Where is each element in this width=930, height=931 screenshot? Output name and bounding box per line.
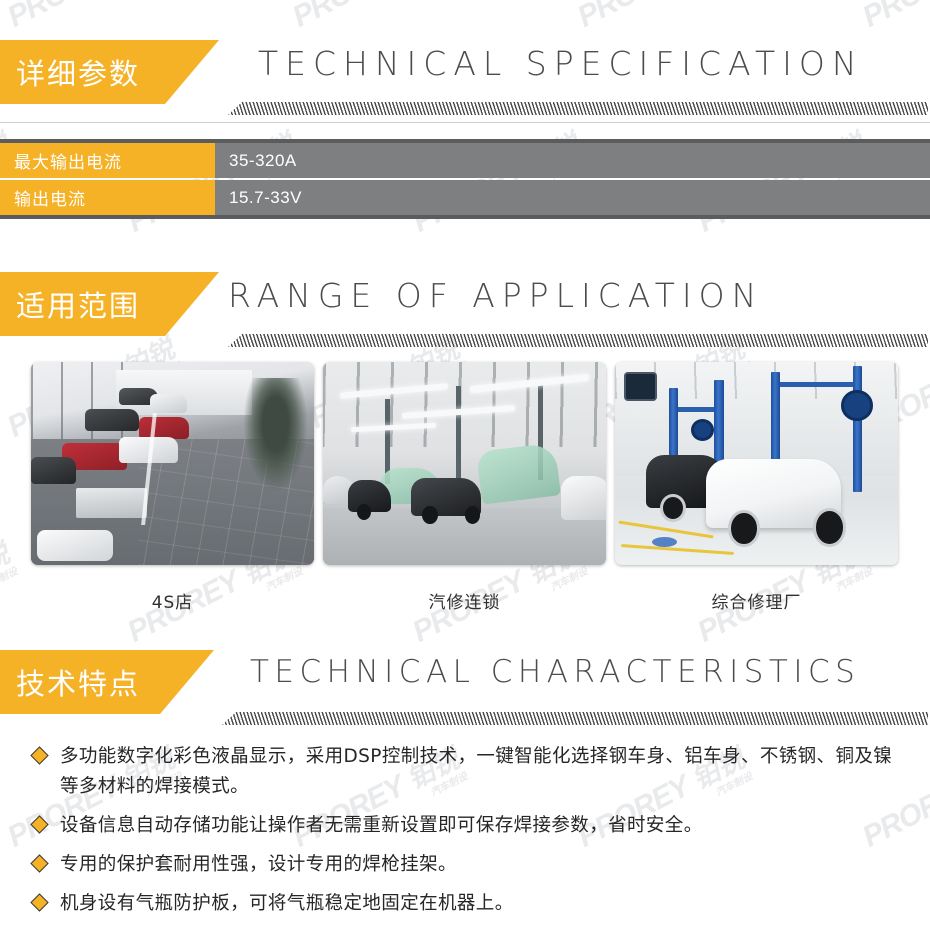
watermark-mark: PROREY 铂锐汽车制设 <box>855 0 930 45</box>
list-item-text: 机身设有气瓶防护板，可将气瓶稳定地固定在机器上。 <box>60 889 514 919</box>
photo-caption-service-bay: 综合修理厂 <box>615 588 898 613</box>
section-title-en-range-of-application: RANGE OF APPLICATION <box>228 276 763 315</box>
list-item-text: 多功能数字化彩色液晶显示，采用DSP控制技术，一键智能化选择钢车身、铝车身、不锈… <box>60 742 905 802</box>
table-cell-label: 最大输出电流 <box>0 143 215 178</box>
diamond-bullet-icon <box>30 854 48 872</box>
section-badge-technical-characteristics: 技术特点 <box>0 650 160 714</box>
table-cell-value: 15.7-33V <box>215 180 930 215</box>
application-photo-gallery <box>0 362 930 572</box>
section-header-technical-specification: 详细参数 TECHNICAL SPECIFICATION <box>0 40 930 124</box>
section-header-range-of-application: 适用范围 RANGE OF APPLICATION <box>0 272 930 356</box>
characteristics-list: 多功能数字化彩色液晶显示，采用DSP控制技术，一键智能化选择钢车身、铝车身、不锈… <box>0 742 930 928</box>
section-badge-range-of-application: 适用范围 <box>0 272 165 336</box>
section-badge-tail <box>165 40 219 104</box>
diamond-bullet-icon <box>30 893 48 911</box>
table-bottom-edge <box>0 215 930 219</box>
watermark-mark: PROREY 铂锐汽车制设 <box>570 0 756 45</box>
hatch-stripe <box>222 712 928 725</box>
table-row: 输出电流 15.7-33V <box>0 180 930 215</box>
table-cell-label: 输出电流 <box>0 180 215 215</box>
spec-table: 最大输出电流 35-320A 输出电流 15.7-33V <box>0 143 930 217</box>
list-item: 机身设有气瓶防护板，可将气瓶稳定地固定在机器上。 <box>0 889 930 919</box>
photo-caption-dealership: 4S店 <box>31 588 314 613</box>
application-photo-service-bay <box>615 362 898 565</box>
section-title-en-technical-characteristics: TECHNICAL CHARACTERISTICS <box>250 654 860 690</box>
watermark-mark: PROREY 铂锐汽车制设 <box>0 0 186 45</box>
section-header-technical-characteristics: 技术特点 TECHNICAL CHARACTERISTICS <box>0 650 930 734</box>
section-badge-label: 技术特点 <box>16 661 140 703</box>
section-badge-label: 详细参数 <box>16 51 140 93</box>
watermark-mark: PROREY 铂锐汽车制设 <box>285 0 471 45</box>
list-item-text: 设备信息自动存储功能让操作者无需重新设置即可保存焊接参数，省时安全。 <box>60 811 703 841</box>
product-spec-page: PROREY 铂锐汽车制设PROREY 铂锐汽车制设PROREY 铂锐汽车制设P… <box>0 0 930 931</box>
section-badge-tail <box>165 272 219 336</box>
diamond-bullet-icon <box>30 746 48 764</box>
list-item-text: 专用的保护套耐用性强，设计专用的焊枪挂架。 <box>60 850 457 880</box>
section-badge-tail <box>160 650 214 714</box>
list-item: 多功能数字化彩色液晶显示，采用DSP控制技术，一键智能化选择钢车身、铝车身、不锈… <box>0 742 930 802</box>
table-row: 最大输出电流 35-320A <box>0 143 930 178</box>
section-title-en-technical-specification: TECHNICAL SPECIFICATION <box>258 44 864 83</box>
list-item: 专用的保护套耐用性强，设计专用的焊枪挂架。 <box>0 850 930 880</box>
application-photo-repair-chain <box>323 362 606 565</box>
list-item: 设备信息自动存储功能让操作者无需重新设置即可保存焊接参数，省时安全。 <box>0 811 930 841</box>
application-photo-dealership <box>31 362 314 565</box>
section-divider <box>0 122 930 123</box>
hatch-stripe <box>228 334 928 347</box>
diamond-bullet-icon <box>30 815 48 833</box>
hatch-stripe <box>228 102 928 115</box>
photo-caption-repair-chain: 汽修连锁 <box>323 588 606 613</box>
table-cell-value: 35-320A <box>215 143 930 178</box>
section-badge-technical-specification: 详细参数 <box>0 40 165 104</box>
section-badge-label: 适用范围 <box>16 283 140 325</box>
